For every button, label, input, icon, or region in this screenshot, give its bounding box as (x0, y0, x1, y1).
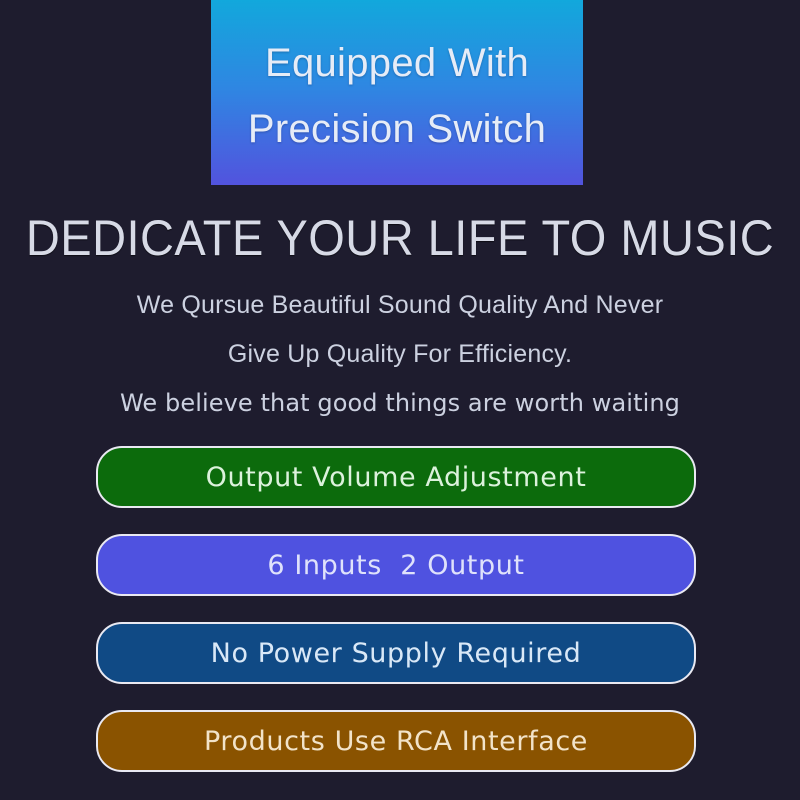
subcopy-block: We Qursue Beautiful Sound Quality And Ne… (0, 281, 800, 428)
hero-banner: Equipped With Precision Switch (211, 0, 583, 185)
feature-pill-output-volume-adjustment[interactable]: Output Volume Adjustment (96, 446, 696, 508)
hero-banner-line-1: Equipped With (265, 30, 529, 96)
subcopy-line-2: Give Up Quality For Efficiency. (0, 330, 800, 379)
subcopy-line-1: We Qursue Beautiful Sound Quality And Ne… (0, 281, 800, 330)
feature-pill-label: No Power Supply Required (211, 638, 582, 669)
feature-list: Output Volume Adjustment 6 Inputs 2 Outp… (96, 446, 696, 772)
feature-pill-label: 6 Inputs 2 Output (267, 550, 524, 581)
feature-pill-rca-interface[interactable]: Products Use RCA Interface (96, 710, 696, 772)
page-title: DEDICATE YOUR LIFE TO MUSIC (24, 209, 776, 267)
feature-pill-label: Products Use RCA Interface (204, 726, 588, 757)
product-promo-page: Equipped With Precision Switch DEDICATE … (0, 0, 800, 800)
feature-pill-inputs-outputs[interactable]: 6 Inputs 2 Output (96, 534, 696, 596)
hero-banner-line-2: Precision Switch (248, 96, 546, 162)
feature-pill-label: Output Volume Adjustment (206, 462, 587, 493)
subcopy-line-3: We believe that good things are worth wa… (0, 379, 800, 428)
feature-pill-no-power-supply-required[interactable]: No Power Supply Required (96, 622, 696, 684)
